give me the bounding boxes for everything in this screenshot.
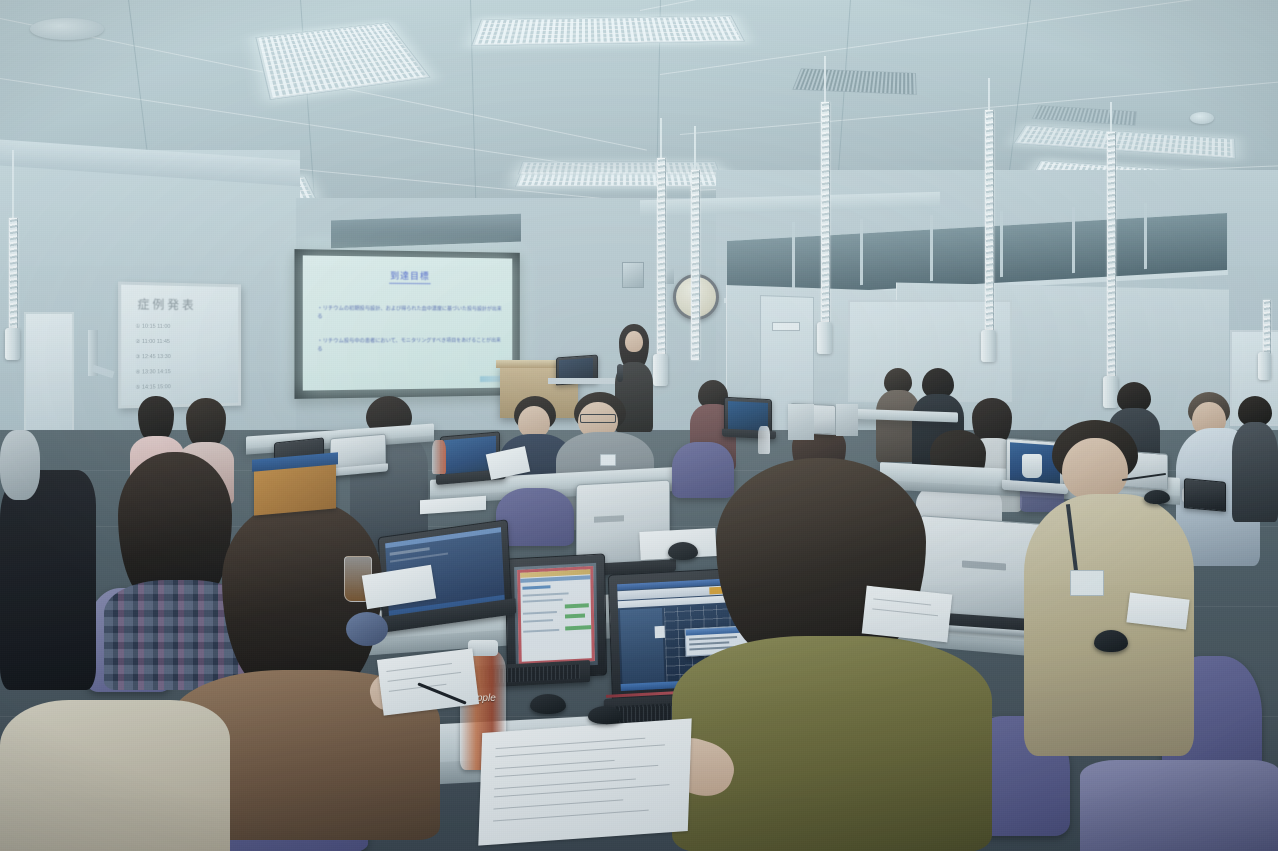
drop-cord: [985, 110, 994, 332]
handout[interactable]: [478, 718, 691, 845]
microphone[interactable]: [617, 364, 623, 382]
participant-seated: [1232, 396, 1278, 516]
drop-cord: [988, 78, 990, 112]
computer-mouse[interactable]: [1144, 490, 1170, 504]
power-outlet-box[interactable]: [1258, 352, 1271, 380]
projected-slide: 到達目標 ・リチウムの初期投与設計、および得られた血中濃度に基づいた投与設計が出…: [303, 255, 513, 390]
drop-cord: [9, 218, 18, 330]
presenter-laptop-screen: [559, 358, 593, 380]
cup[interactable]: [1022, 454, 1042, 478]
air-vent: [1032, 105, 1137, 126]
projection-screen: 到達目標 ・リチウムの初期投与設計、および得られた血中濃度に基づいた投与設計が出…: [294, 249, 519, 399]
slide-bullet: ・リチウム投与中の患者において、モニタリングすべき項目をあげることが出来る: [317, 337, 503, 354]
coat-on-chair: [0, 470, 96, 690]
handout[interactable]: [377, 648, 479, 715]
person-partial: [0, 430, 40, 500]
whiteboard-row: ④ 13:30 14:15: [135, 369, 170, 375]
photograph-classroom-workshop: 到達目標 ・リチウムの初期投与設計、および得られた血中濃度に基づいた投与設計が出…: [0, 0, 1278, 851]
drop-cord: [12, 150, 14, 220]
window-mullion: [1000, 211, 1003, 277]
fluorescent-light-fixture: [471, 16, 745, 46]
handout[interactable]: [862, 586, 953, 643]
drop-cord: [660, 118, 662, 160]
whiteboard-row: ③ 12:45 13:30: [135, 354, 170, 360]
drop-cord: [1263, 300, 1271, 354]
window-mullion: [792, 222, 795, 288]
slide-bullet: ・リチウムの初期投与設計、および得られた血中濃度に基づいた投与設計が出来る: [317, 305, 503, 321]
power-outlet-box[interactable]: [817, 322, 832, 354]
drop-cord: [691, 170, 700, 360]
participant-beige-jacket: [1024, 420, 1194, 750]
window-mullion: [1072, 207, 1075, 273]
window-mullion: [1144, 203, 1147, 269]
whiteboard-row: ② 11:00 11:45: [135, 339, 170, 345]
name-badge: [600, 454, 616, 466]
whiteboard-heading: 症例発表: [137, 295, 196, 313]
power-outlet-box[interactable]: [981, 330, 996, 362]
participant-olive-top: [672, 458, 992, 851]
computer-tower: [836, 404, 858, 436]
computer-tower: [788, 404, 814, 440]
drop-cord: [657, 158, 666, 356]
whiteboard-left: 症例発表 ① 10:15 11:00 ② 11:00 11:45 ③ 12:45…: [118, 282, 241, 409]
drink-bottle[interactable]: [758, 426, 770, 454]
power-outlet-box[interactable]: [5, 328, 20, 360]
computer-mouse[interactable]: [530, 694, 566, 714]
wall-panel: [24, 312, 74, 436]
wall-speaker: [622, 262, 644, 288]
drop-cord: [821, 102, 830, 324]
drop-cord: [1110, 102, 1112, 134]
window-mullion: [860, 219, 863, 285]
window-mullion: [930, 215, 933, 281]
chair-back: [1080, 760, 1278, 851]
smoke-detector: [30, 18, 104, 40]
slide-title: 到達目標: [303, 268, 513, 283]
drop-cord: [1107, 132, 1116, 378]
whiteboard-row: ⑤ 14:15 15:00: [135, 384, 170, 391]
drop-cord: [824, 56, 826, 104]
computer-mouse[interactable]: [668, 542, 698, 560]
computer-mouse[interactable]: [1094, 630, 1128, 652]
name-badge: [1070, 570, 1104, 596]
air-vent: [792, 68, 917, 94]
drop-cord: [694, 126, 696, 172]
person-partial: [0, 700, 230, 851]
podium-table: [548, 378, 618, 384]
whiteboard-row: ① 10:15 11:00: [135, 324, 170, 330]
smoke-detector: [1190, 112, 1214, 124]
door-sign: [772, 322, 800, 331]
eyeglasses: [580, 414, 616, 423]
computer-mouse[interactable]: [588, 706, 622, 724]
drink-bottle[interactable]: [432, 440, 446, 474]
fluorescent-light-fixture: [1013, 125, 1236, 159]
fluorescent-light-fixture: [255, 22, 430, 100]
hair-tie: [346, 612, 388, 646]
